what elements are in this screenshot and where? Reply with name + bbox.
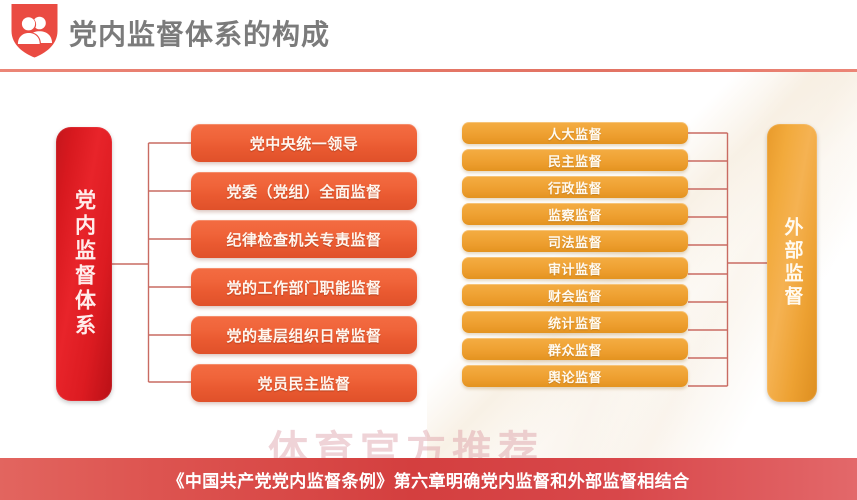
header-divider (0, 69, 857, 72)
list-item[interactable]: 审计监督 (462, 257, 688, 279)
caption-text: 《中国共产党党内监督条例》第六章明确党内监督和外部监督相结合 (168, 467, 690, 492)
list-item-label: 党的基层组织日常监督 (226, 325, 381, 346)
list-item-label: 监察监督 (548, 205, 602, 224)
list-item-label: 党中央统一领导 (250, 133, 359, 154)
list-item[interactable]: 纪律检查机关专责监督 (191, 220, 417, 258)
caption-bar: 《中国共产党党内监督条例》第六章明确党内监督和外部监督相结合 (0, 458, 857, 500)
list-item[interactable]: 统计监督 (462, 311, 688, 333)
list-item[interactable]: 党员民主监督 (191, 364, 417, 402)
list-item-label: 党委（党组）全面监督 (226, 181, 381, 202)
list-item-label: 司法监督 (548, 232, 602, 251)
list-item[interactable]: 财会监督 (462, 284, 688, 306)
slide-header: 党内监督体系的构成 (0, 0, 857, 71)
internal-supervision-list: 党中央统一领导 党委（党组）全面监督 纪律检查机关专责监督 党的工作部门职能监督… (191, 124, 417, 402)
list-item[interactable]: 党委（党组）全面监督 (191, 172, 417, 210)
slide-canvas: 党内监督体系的构成 (0, 0, 857, 500)
node-internal-supervision-system-label: 党内监督体系 (74, 189, 95, 339)
shield-people-icon (9, 1, 60, 59)
list-item-label: 审计监督 (548, 259, 602, 278)
list-item-label: 统计监督 (548, 313, 602, 332)
list-item[interactable]: 人大监督 (462, 122, 688, 144)
list-item[interactable]: 党的基层组织日常监督 (191, 316, 417, 354)
list-item-label: 党员民主监督 (257, 373, 350, 394)
list-item-label: 纪律检查机关专责监督 (226, 229, 381, 250)
list-item[interactable]: 行政监督 (462, 176, 688, 198)
list-item-label: 财会监督 (548, 286, 602, 305)
list-item-label: 群众监督 (548, 340, 602, 359)
list-item[interactable]: 党中央统一领导 (191, 124, 417, 162)
list-item-label: 民主监督 (548, 151, 602, 170)
node-internal-supervision-system[interactable]: 党内监督体系 (56, 127, 112, 401)
list-item[interactable]: 党的工作部门职能监督 (191, 268, 417, 306)
page-title: 党内监督体系的构成 (69, 13, 330, 53)
list-item-label: 党的工作部门职能监督 (226, 277, 381, 298)
list-item-label: 舆论监督 (548, 367, 602, 386)
node-external-supervision[interactable]: 外部监督 (767, 124, 817, 402)
list-item-label: 行政监督 (548, 178, 602, 197)
node-external-supervision-label: 外部监督 (783, 217, 802, 309)
list-item-label: 人大监督 (548, 124, 602, 143)
list-item[interactable]: 舆论监督 (462, 365, 688, 387)
list-item[interactable]: 司法监督 (462, 230, 688, 252)
list-item[interactable]: 监察监督 (462, 203, 688, 225)
list-item[interactable]: 群众监督 (462, 338, 688, 360)
list-item[interactable]: 民主监督 (462, 149, 688, 171)
external-supervision-list: 人大监督 民主监督 行政监督 监察监督 司法监督 审计监督 财会监督 统计监督 … (462, 122, 688, 387)
